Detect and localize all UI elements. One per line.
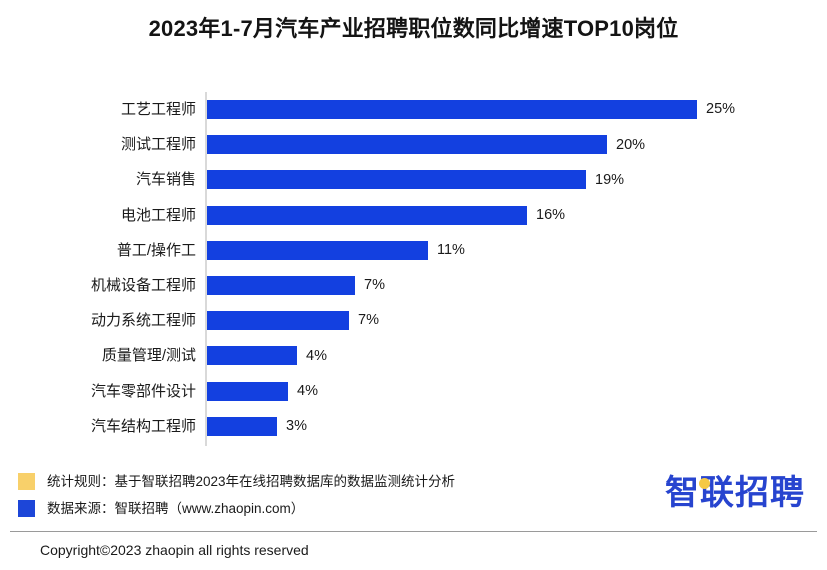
copyright-text: Copyright©2023 zhaopin all rights reserv… bbox=[40, 543, 309, 557]
bar-fill bbox=[207, 346, 297, 365]
bar-row: 汽车销售19% bbox=[0, 162, 827, 197]
footnote-statistical-rule-text: 统计规则：基于智联招聘2023年在线招聘数据库的数据监测统计分析 bbox=[47, 475, 455, 489]
bar-row: 汽车结构工程师3% bbox=[0, 409, 827, 444]
bar-track: 3% bbox=[207, 417, 307, 436]
bar-fill bbox=[207, 276, 355, 295]
bar-track: 25% bbox=[207, 100, 735, 119]
bar-value-label: 4% bbox=[306, 349, 327, 364]
footnote-list: 统计规则：基于智联招聘2023年在线招聘数据库的数据监测统计分析 数据来源：智联… bbox=[18, 468, 638, 522]
bar-series: 工艺工程师25%测试工程师20%汽车销售19%电池工程师16%普工/操作工11%… bbox=[0, 92, 827, 444]
logo-text: 智联招聘 bbox=[665, 474, 805, 512]
bar-value-label: 19% bbox=[595, 173, 624, 188]
bar-category-label: 动力系统工程师 bbox=[0, 313, 196, 328]
bar-value-label: 3% bbox=[286, 419, 307, 434]
bar-value-label: 11% bbox=[437, 243, 465, 258]
bar-value-label: 7% bbox=[364, 278, 385, 293]
bar-track: 4% bbox=[207, 382, 318, 401]
bar-fill bbox=[207, 382, 288, 401]
bar-category-label: 汽车销售 bbox=[0, 172, 196, 187]
bar-value-label: 20% bbox=[616, 138, 645, 153]
bar-row: 汽车零部件设计4% bbox=[0, 374, 827, 409]
bar-fill bbox=[207, 100, 697, 119]
bar-row: 电池工程师16% bbox=[0, 198, 827, 233]
footnote-statistical-rule: 统计规则：基于智联招聘2023年在线招聘数据库的数据监测统计分析 bbox=[18, 468, 638, 495]
bar-value-label: 25% bbox=[706, 102, 735, 117]
bar-category-label: 汽车结构工程师 bbox=[0, 419, 196, 434]
bar-value-label: 7% bbox=[358, 313, 379, 328]
bar-category-label: 普工/操作工 bbox=[0, 243, 196, 258]
bar-fill bbox=[207, 206, 527, 225]
bar-row: 普工/操作工11% bbox=[0, 233, 827, 268]
bar-category-label: 机械设备工程师 bbox=[0, 278, 196, 293]
bar-fill bbox=[207, 170, 586, 189]
footer-divider bbox=[10, 531, 817, 532]
bar-track: 20% bbox=[207, 135, 645, 154]
bar-fill bbox=[207, 417, 277, 436]
bar-fill bbox=[207, 135, 607, 154]
blue-square-icon bbox=[18, 500, 35, 517]
logo-dot-icon bbox=[699, 478, 710, 489]
bar-value-label: 16% bbox=[536, 208, 565, 223]
bar-track: 7% bbox=[207, 311, 379, 330]
footnote-data-source: 数据来源：智联招聘（www.zhaopin.com） bbox=[18, 495, 638, 522]
bar-row: 动力系统工程师7% bbox=[0, 303, 827, 338]
page-title: 2023年1-7月汽车产业招聘职位数同比增速TOP10岗位 bbox=[80, 14, 747, 44]
bar-fill bbox=[207, 241, 428, 260]
bar-value-label: 4% bbox=[297, 384, 318, 399]
bar-row: 机械设备工程师7% bbox=[0, 268, 827, 303]
bar-row: 质量管理/测试4% bbox=[0, 338, 827, 373]
bar-category-label: 测试工程师 bbox=[0, 137, 196, 152]
bar-category-label: 质量管理/测试 bbox=[0, 348, 196, 363]
chart-plot-area: 工艺工程师25%测试工程师20%汽车销售19%电池工程师16%普工/操作工11%… bbox=[0, 92, 827, 450]
bar-track: 19% bbox=[207, 170, 624, 189]
bar-category-label: 汽车零部件设计 bbox=[0, 384, 196, 399]
bar-track: 4% bbox=[207, 346, 327, 365]
bar-category-label: 工艺工程师 bbox=[0, 102, 196, 117]
bar-track: 11% bbox=[207, 241, 465, 260]
zhaopin-logo: 智联招聘 bbox=[665, 476, 805, 510]
bar-track: 7% bbox=[207, 276, 385, 295]
bar-track: 16% bbox=[207, 206, 565, 225]
bar-category-label: 电池工程师 bbox=[0, 208, 196, 223]
footnote-data-source-text: 数据来源：智联招聘（www.zhaopin.com） bbox=[47, 502, 304, 516]
bar-row: 工艺工程师25% bbox=[0, 92, 827, 127]
bar-fill bbox=[207, 311, 349, 330]
bar-row: 测试工程师20% bbox=[0, 127, 827, 162]
yellow-square-icon bbox=[18, 473, 35, 490]
